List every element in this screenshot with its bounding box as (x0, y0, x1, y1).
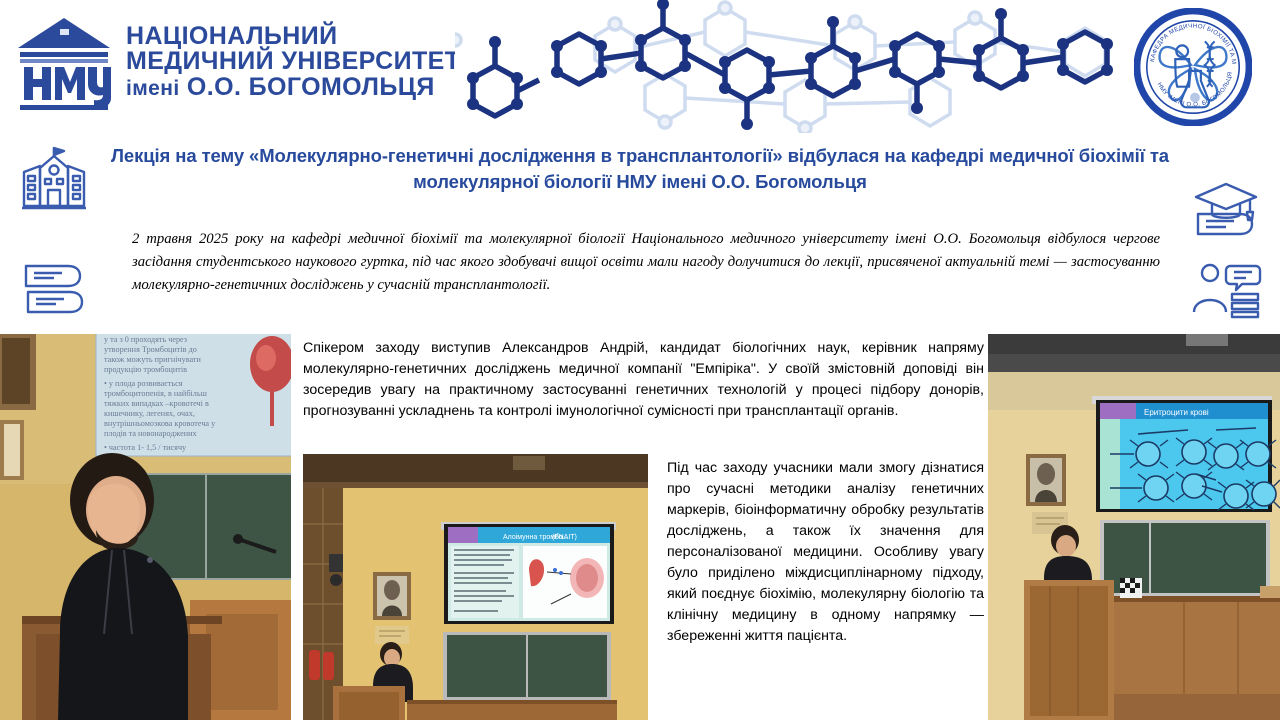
page-title: Лекція на тему «Молекулярно-генетичні до… (110, 143, 1170, 196)
university-logo-block: НАЦІОНАЛЬНИЙ МЕДИЧНИЙ УНІВЕРСИТЕТ імені … (14, 12, 460, 112)
svg-text:• у плода розвивається: • у плода розвивається (104, 379, 183, 388)
svg-text:тромбоцитопенія, в найбільш: тромбоцитопенія, в найбільш (104, 389, 208, 398)
svg-text:тяжких випадках –кровотечі в: тяжких випадках –кровотечі в (104, 399, 209, 408)
molecular-banner: КАФЕДРА МЕДИЧНОЇ БІОХІМІЇ ТА МОЛЕКУЛЯРНО… (455, 0, 1280, 133)
logo-line-3-rest: О.О. БОГОМОЛЬЦЯ (180, 73, 435, 101)
svg-text:Еритроцити крові: Еритроцити крові (1144, 408, 1209, 417)
page-header: НАЦІОНАЛЬНИЙ МЕДИЧНИЙ УНІВЕРСИТЕТ імені … (0, 0, 1280, 133)
nmu-monogram-logo-icon (14, 12, 114, 112)
svg-text:внутрішньомозкова кровотеча у: внутрішньомозкова кровотеча у (104, 419, 216, 428)
paragraph-speaker-info: Спікером заходу виступив Александров Анд… (303, 338, 984, 422)
body-content: у та з 0 проходять через утворення Тромб… (0, 334, 1280, 720)
books-stack-icon (18, 258, 90, 320)
molecular-chain-banner-icon (455, 0, 1135, 133)
school-building-icon (18, 142, 90, 214)
photo-speaker-at-podium-closeup: у та з 0 проходять через утворення Тромб… (0, 334, 291, 720)
svg-text:• частота 1- 1,5 / тисячу: • частота 1- 1,5 / тисячу (104, 443, 187, 452)
svg-text:утворення Тромбоцитів до: утворення Тромбоцитів до (104, 345, 197, 354)
svg-text:кишечнику, легенях, очах,: кишечнику, легенях, очах, (104, 409, 195, 418)
page-title-wrap: Лекція на тему «Молекулярно-генетичні до… (110, 143, 1170, 196)
photo-lecture-hall-wide-fnait-slide: Алоімунна тромбо... (FNAIT) (303, 454, 648, 720)
graduation-cap-book-icon (1190, 178, 1262, 240)
logo-line-3-small: імені (126, 77, 180, 100)
svg-text:також можуть пригнічувати: також можуть пригнічувати (104, 355, 201, 364)
svg-text:плодів та новонароджених: плодів та новонароджених (104, 429, 197, 438)
svg-text:(FNAIT): (FNAIT) (552, 534, 577, 541)
svg-text:у та з 0 проходять через: у та з 0 проходять через (104, 335, 187, 344)
department-seal-emblem-icon: КАФЕДРА МЕДИЧНОЇ БІОХІМІЇ ТА МОЛЕКУЛЯРНО… (1134, 8, 1252, 126)
speaker-person-icon (1190, 262, 1262, 320)
logo-line-3: імені О.О. БОГОМОЛЬЦЯ (126, 75, 460, 101)
intro-paragraph: 2 травня 2025 року на кафедрі медичної б… (132, 228, 1160, 298)
svg-text:продукцію тромбоцитів: продукцію тромбоцитів (104, 365, 187, 374)
paragraph-event-details: Під час заходу учасники мали змогу дізна… (667, 458, 984, 647)
page-root: НАЦІОНАЛЬНИЙ МЕДИЧНИЙ УНІВЕРСИТЕТ імені … (0, 0, 1280, 720)
logo-line-2: МЕДИЧНИЙ УНІВЕРСИТЕТ (126, 49, 460, 75)
university-logo-text: НАЦІОНАЛЬНИЙ МЕДИЧНИЙ УНІВЕРСИТЕТ імені … (126, 24, 460, 101)
logo-line-1: НАЦІОНАЛЬНИЙ (126, 24, 460, 50)
photo-lecture-hall-speaker-blue-slide: Еритроцити крові (988, 334, 1280, 720)
